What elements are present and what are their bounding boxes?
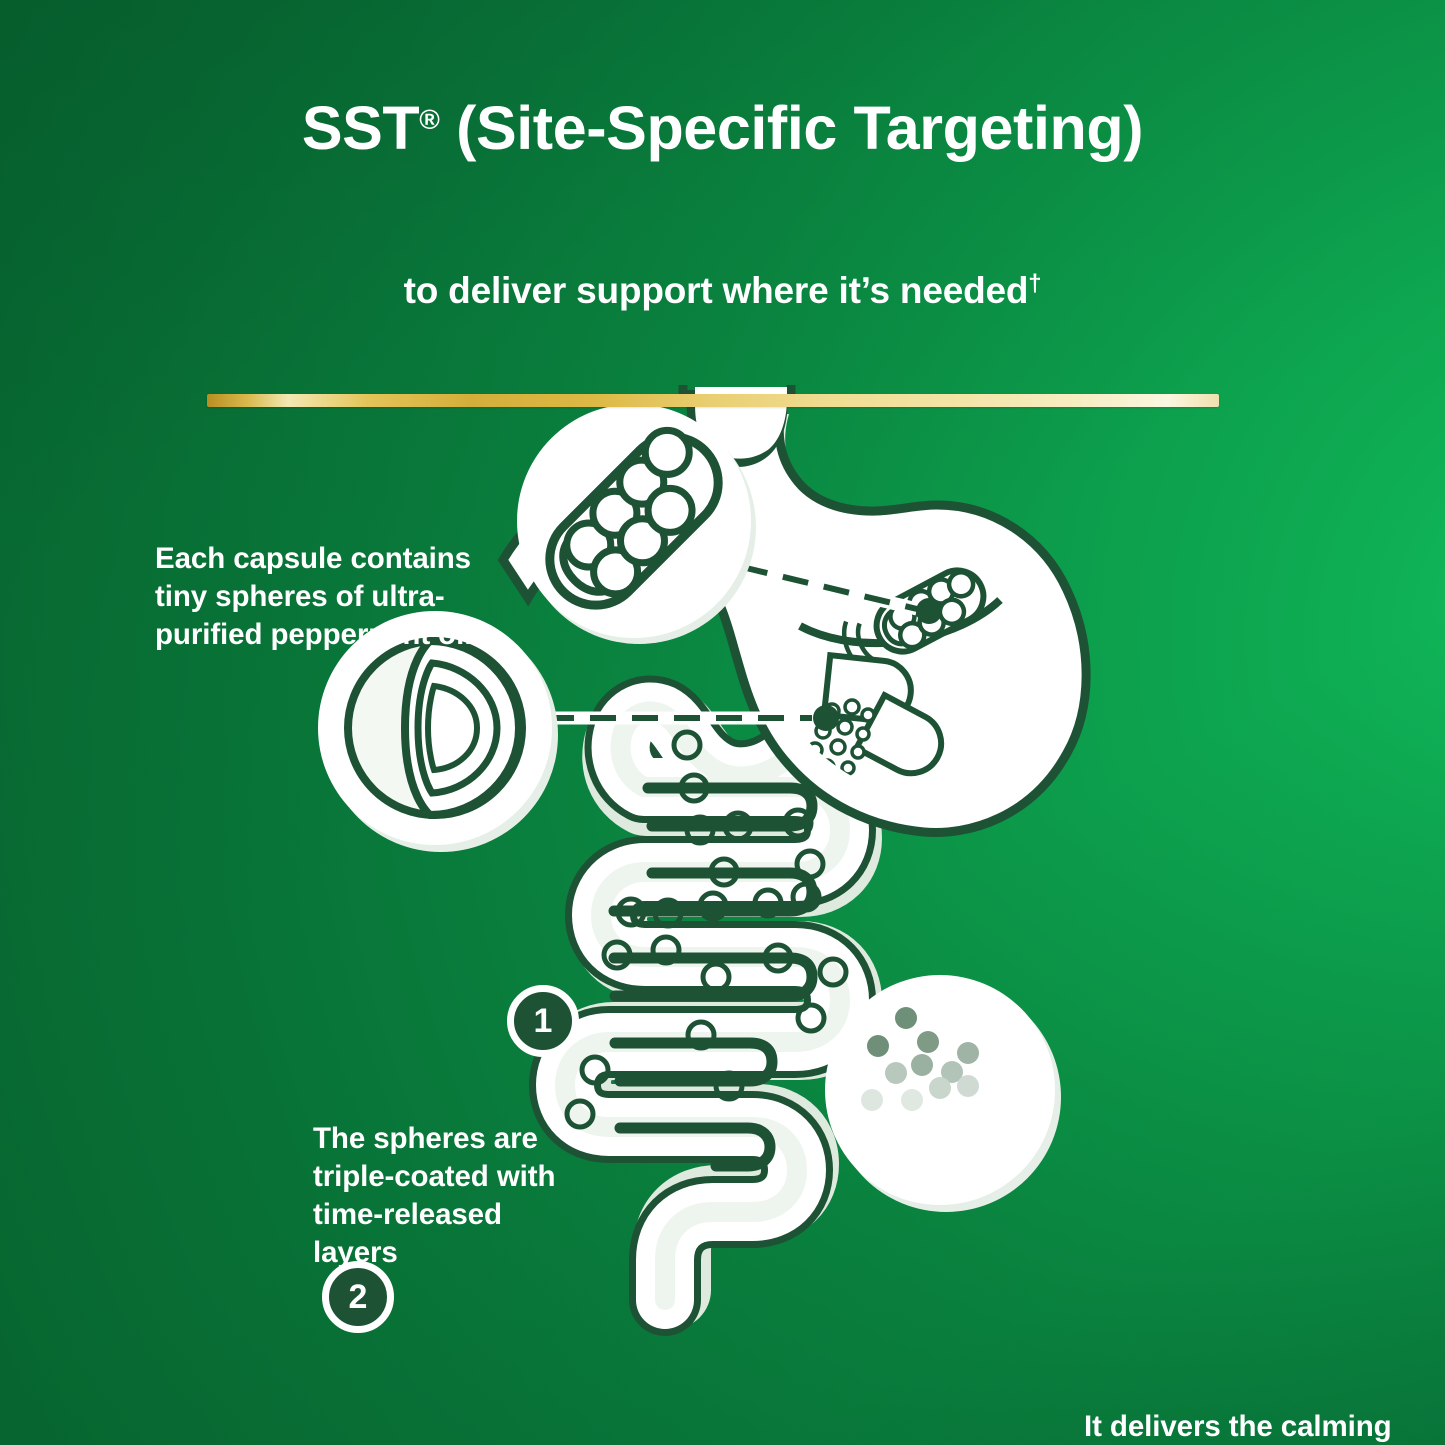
- spilled-spheres: [808, 700, 874, 774]
- callout-text-3-lead: It delivers the calming power of pepperm…: [1084, 1410, 1392, 1445]
- stomach-inner-curve: [800, 600, 1000, 643]
- intestine-shadow: [572, 719, 843, 1290]
- digestive-system-artwork: [0, 0, 1445, 1445]
- callout-circle-3: [825, 975, 1061, 1212]
- callout-text-3: It delivers the calming power of pepperm…: [1084, 1408, 1404, 1445]
- connector-lines: [548, 567, 942, 731]
- dissolving-particles-icon: [861, 1007, 979, 1111]
- step-badge-1: 1: [507, 985, 579, 1057]
- capsule-with-spheres-icon: [530, 417, 737, 624]
- title-acronym: SST: [302, 94, 419, 162]
- capsule-moving-icon: [836, 558, 995, 680]
- intestine-body: [565, 711, 840, 1300]
- coating-layer-1: [405, 641, 519, 815]
- page-title: SST® (Site-Specific Targeting): [0, 96, 1445, 161]
- callout-circle-1: [517, 404, 756, 644]
- intestine-lumen: [565, 711, 840, 1300]
- dashed-connector-line-2: [548, 705, 839, 731]
- dashed-connector-line-1: [742, 567, 942, 624]
- coating-layer-2: [418, 663, 497, 793]
- connector-endpoint-2: [813, 705, 839, 731]
- small-intestine-illustration: [565, 711, 846, 1300]
- coated-sphere-cross-section-icon: [348, 641, 522, 815]
- intestine-spheres: [567, 732, 846, 1127]
- callout-text-1: Each capsule contains tiny spheres of ul…: [155, 540, 485, 654]
- page-subtitle: to deliver support where it’s needed†: [0, 270, 1445, 312]
- callout-text-2: The spheres are triple-coated with time-…: [313, 1120, 583, 1272]
- dagger-icon: †: [1028, 270, 1041, 297]
- stomach-body: [503, 404, 1086, 833]
- connector-endpoint-1: [916, 598, 942, 624]
- coating-layer-3: [428, 686, 477, 770]
- intestine-channel: [614, 788, 812, 1166]
- step-badge-2: 2: [322, 1261, 394, 1333]
- infographic-canvas: SST® (Site-Specific Targeting) to delive…: [0, 0, 1445, 1445]
- registered-trademark-icon: ®: [419, 104, 439, 135]
- stomach-illustration: [503, 385, 1086, 833]
- stomach-shadow: [600, 414, 1086, 833]
- open-capsule-spilling-spheres-icon: [795, 622, 976, 790]
- subtitle-text: to deliver support where it’s needed: [404, 270, 1029, 311]
- intestine-outline: [565, 711, 840, 1300]
- gold-divider: [207, 394, 1219, 407]
- title-expansion: (Site-Specific Targeting): [440, 94, 1144, 162]
